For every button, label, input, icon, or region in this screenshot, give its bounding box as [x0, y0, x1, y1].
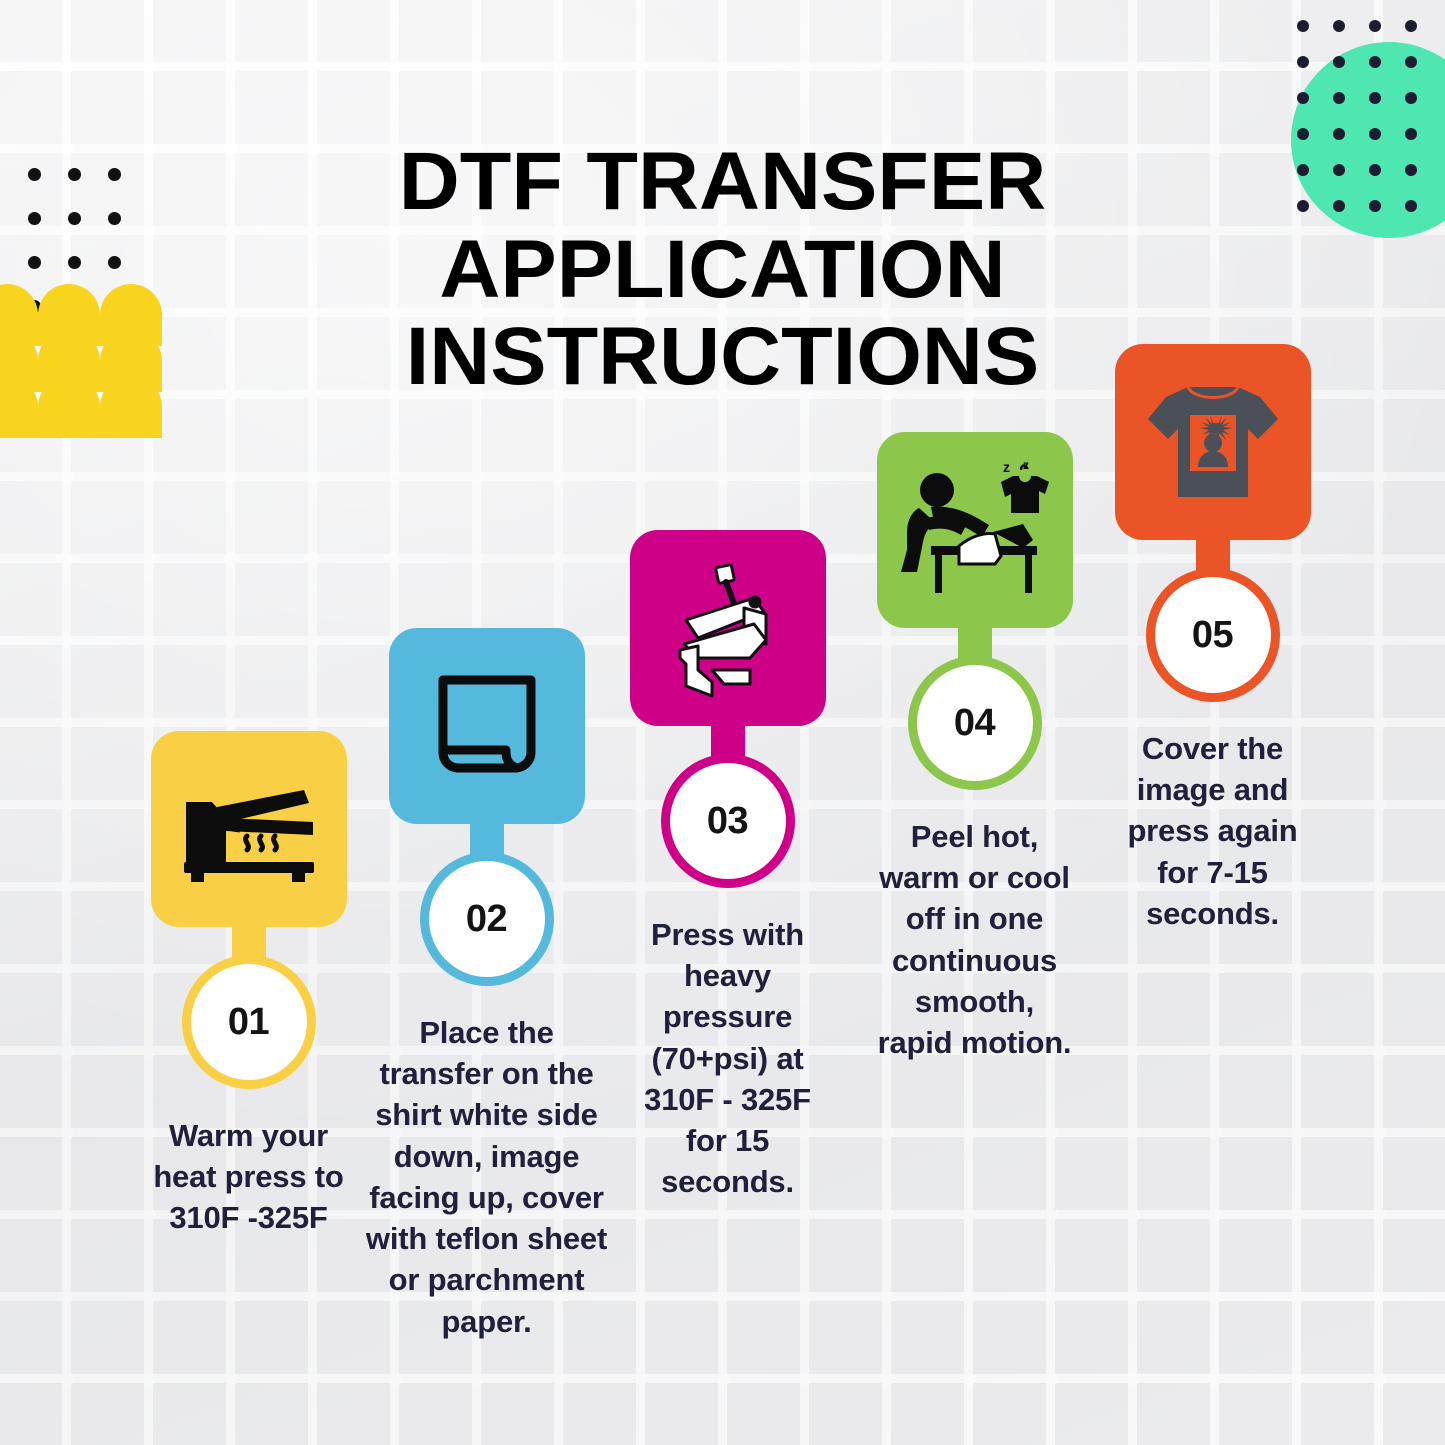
step-03-number: 03 — [670, 763, 786, 879]
svg-text:z: z — [1023, 460, 1029, 472]
decorative-dot — [1405, 92, 1417, 104]
decorative-dot — [1333, 20, 1345, 32]
heat-press-open-icon — [174, 774, 324, 884]
step-01-caption: Warm your heat press to 310F -325F — [134, 1115, 364, 1239]
step-03: 03 Press with heavy pressure (70+psi) at… — [605, 530, 850, 1203]
step-01: 01 Warm your heat press to 310F -325F — [126, 731, 371, 1239]
decorative-dot — [1369, 56, 1381, 68]
person-peeling-transfer-icon: z z — [897, 460, 1053, 600]
decorative-dot — [1369, 20, 1381, 32]
step-02: 02 Place the transfer on the shirt white… — [364, 628, 609, 1342]
step-04-number: 04 — [917, 665, 1033, 781]
decorative-dot — [1369, 92, 1381, 104]
step-04: z z 04 Peel ho — [852, 432, 1097, 1063]
step-01-card — [151, 731, 347, 927]
decorative-dot — [1297, 20, 1309, 32]
decorative-dot — [1405, 56, 1417, 68]
step-04-card: z z — [877, 432, 1073, 628]
step-05-caption: Cover the image and press again for 7-15… — [1119, 728, 1307, 934]
decorative-dot — [1405, 20, 1417, 32]
step-02-number-bubble: 02 — [420, 852, 554, 986]
heat-press-machine-icon — [658, 558, 798, 698]
printed-tshirt-icon — [1138, 377, 1288, 507]
step-02-caption: Place the transfer on the shirt white si… — [363, 1012, 611, 1342]
step-02-card — [389, 628, 585, 824]
decorative-dot — [1297, 92, 1309, 104]
infographic-canvas: DTF TRANSFER APPLICATION INSTRUCTIONS — [0, 0, 1445, 1445]
step-01-number: 01 — [191, 964, 307, 1080]
decorative-dot — [1333, 92, 1345, 104]
step-05-number-bubble: 05 — [1146, 568, 1280, 702]
step-03-card — [630, 530, 826, 726]
step-01-number-bubble: 01 — [182, 955, 316, 1089]
decorative-dot — [1333, 56, 1345, 68]
step-03-number-bubble: 03 — [661, 754, 795, 888]
step-04-caption: Peel hot, warm or cool off in one contin… — [877, 816, 1073, 1063]
step-05: 05 Cover the image and press again for 7… — [1090, 344, 1335, 934]
step-05-number: 05 — [1155, 577, 1271, 693]
step-05-card — [1115, 344, 1311, 540]
transfer-sheet-icon — [427, 666, 547, 786]
step-02-number: 02 — [429, 861, 545, 977]
svg-text:z: z — [1003, 460, 1010, 475]
decorative-dot — [1297, 56, 1309, 68]
step-03-caption: Press with heavy pressure (70+psi) at 31… — [622, 914, 834, 1203]
step-04-number-bubble: 04 — [908, 656, 1042, 790]
